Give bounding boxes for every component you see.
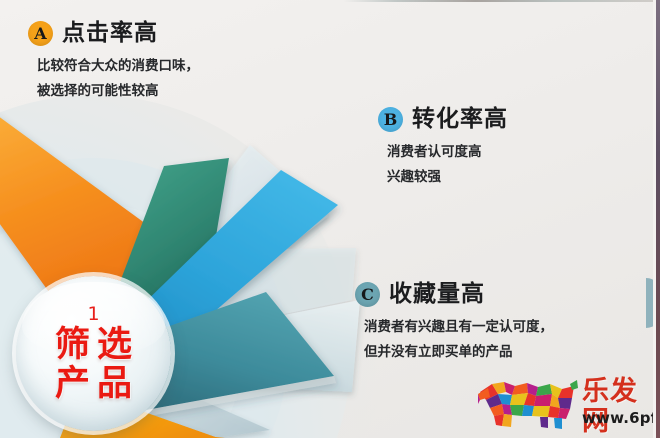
badge-b-icon: B: [378, 107, 403, 132]
slide-canvas: 1 筛选 产品 A 点击率高 比较符合大众的消费口味， 被选择的可能性较高 B …: [0, 0, 660, 438]
bullet-c-body: 消费者有兴趣且有一定认可度， 但并没有立即买单的产品: [364, 315, 553, 365]
bullet-b-line-1: 消费者认可度高: [387, 140, 508, 165]
site-watermark: 乐发网 www.6pf.cn: [478, 376, 656, 434]
bullet-b-title: 转化率高: [412, 106, 508, 132]
bullet-a-title: 点击率高: [62, 20, 158, 46]
bullet-b-heading: B 转化率高: [378, 106, 508, 132]
step-number: 1: [87, 304, 99, 324]
watermark-url: www.6pf.cn: [582, 409, 660, 427]
bullet-b-body: 消费者认可度高 兴趣较强: [387, 140, 508, 190]
bullet-b-line-2: 兴趣较强: [387, 165, 508, 190]
bullet-a-line-2: 被选择的可能性较高: [37, 79, 199, 104]
bullet-c-line-2: 但并没有立即买单的产品: [364, 340, 553, 365]
bullet-block-c: C 收藏量高 消费者有兴趣且有一定认可度， 但并没有立即买单的产品: [355, 281, 553, 365]
step-disc-content: 1 筛选 产品: [16, 276, 171, 431]
bullet-c-line-1: 消费者有兴趣且有一定认可度，: [364, 315, 553, 340]
bullet-block-a: A 点击率高 比较符合大众的消费口味， 被选择的可能性较高: [28, 20, 199, 104]
badge-c-icon: C: [355, 282, 380, 307]
bullet-c-heading: C 收藏量高: [355, 281, 553, 307]
bullet-c-title: 收藏量高: [389, 281, 485, 307]
right-edge-border: [656, 0, 660, 438]
badge-a-icon: A: [28, 21, 53, 46]
step-label-line2: 产品: [48, 365, 139, 404]
bullet-a-heading: A 点击率高: [28, 20, 199, 46]
bullet-a-line-1: 比较符合大众的消费口味，: [37, 54, 199, 79]
step-label-line1: 筛选: [48, 326, 139, 365]
watermark-brand: 乐发网: [582, 377, 656, 437]
bullet-a-body: 比较符合大众的消费口味， 被选择的可能性较高: [37, 54, 199, 104]
bullet-block-b: B 转化率高 消费者认可度高 兴趣较强: [378, 106, 508, 190]
bull-logo-icon: [478, 378, 578, 430]
